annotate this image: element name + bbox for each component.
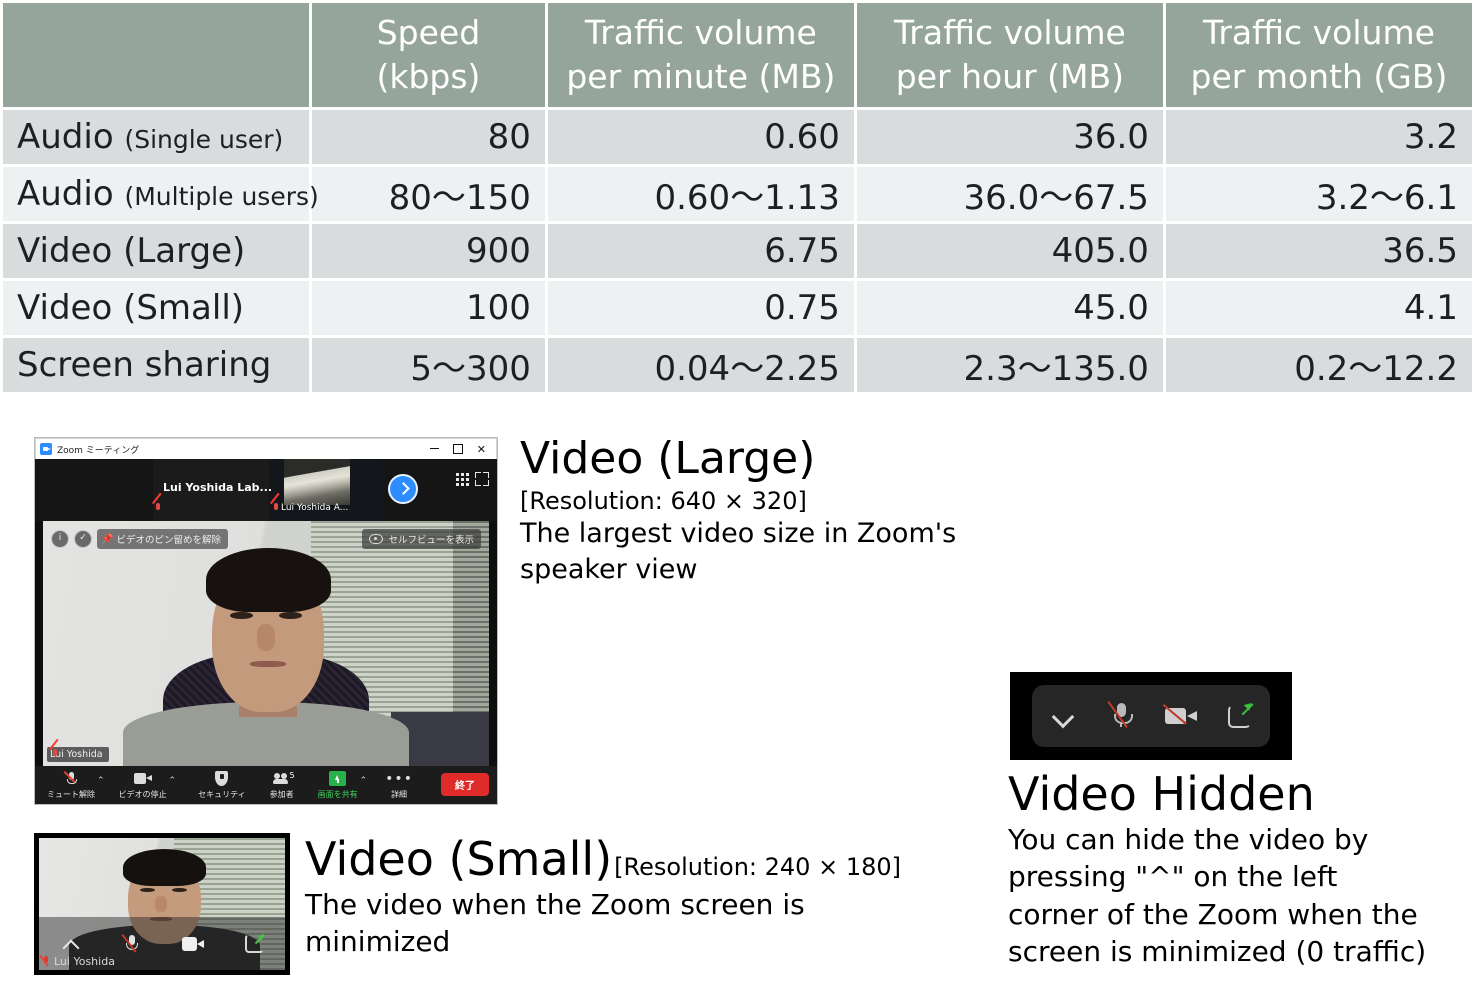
caption-large-resolution: [Resolution: 640 × 320] — [520, 487, 1060, 515]
traffic-table: Speed (kbps) Traffic volume per minute (… — [0, 0, 1475, 395]
toolbar-mute-button[interactable]: ミュート解除 — [47, 766, 95, 804]
gallery-view-icon[interactable] — [456, 473, 469, 486]
more-dots-icon: ••• — [385, 771, 413, 787]
cell-speed: 900 — [312, 224, 545, 278]
column-header-speed-line1: Speed — [318, 11, 539, 55]
minimized-zoom-toolbar — [1032, 685, 1270, 747]
unpin-video-label: ビデオのピン留めを解除 — [116, 532, 221, 546]
zoom-logo-icon — [40, 443, 52, 455]
video-person-nose — [257, 624, 275, 651]
video-person-mouth — [250, 661, 286, 667]
table-corner-cell — [3, 3, 309, 107]
column-header-per-minute: Traffic volume per minute (MB) — [548, 3, 854, 107]
zoom-window-titlebar: Zoom ミーティング ✕ — [35, 438, 497, 459]
camera-off-icon[interactable] — [1164, 699, 1198, 733]
caption-hidden-desc-line1: You can hide the video by — [1008, 822, 1475, 858]
close-icon[interactable]: ✕ — [477, 444, 486, 455]
toolbar-video-button[interactable]: ビデオの停止 — [119, 766, 167, 804]
participant-a-name: Lui Yoshida Lab... — [163, 481, 272, 494]
cell-per-minute: 0.75 — [548, 281, 854, 335]
chevron-down-icon[interactable] — [1045, 699, 1079, 733]
next-participants-icon[interactable] — [388, 474, 418, 504]
camera-icon[interactable] — [180, 933, 206, 955]
column-header-per-month-line2: per month (GB) — [1172, 55, 1466, 99]
column-header-per-month: Traffic volume per month (GB) — [1166, 3, 1472, 107]
row-label-main: Audio — [17, 174, 114, 214]
table-row: Video (Large) 900 6.75 405.0 36.5 — [3, 224, 1472, 278]
cell-per-month: 3.2〜6.1 — [1166, 167, 1472, 221]
maximize-icon[interactable] — [453, 444, 463, 454]
mic-muted-icon — [271, 503, 280, 515]
cell-per-minute: 0.60〜1.13 — [548, 167, 854, 221]
cell-speed: 80〜150 — [312, 167, 545, 221]
toolbar-video-label: ビデオの停止 — [119, 789, 167, 800]
video-person-eye — [279, 612, 301, 619]
table-row: Audio (Multiple users) 80〜150 0.60〜1.13 … — [3, 167, 1472, 221]
caption-video-small: Video (Small) [Resolution: 240 × 180] Th… — [305, 835, 975, 960]
cell-per-minute: 0.60 — [548, 110, 854, 164]
video-person-nose — [155, 896, 167, 912]
column-header-per-hour-line2: per hour (MB) — [863, 55, 1157, 99]
video-options-caret-icon[interactable]: ⌃ — [169, 776, 177, 786]
chevron-up-icon[interactable] — [57, 933, 83, 955]
mute-options-caret-icon[interactable]: ⌃ — [97, 776, 105, 786]
pin-icon: 📌 — [101, 534, 113, 545]
illustration-area: Zoom ミーティング ✕ Lui Yoshida Lab... Lui Yos… — [0, 420, 1475, 988]
column-header-per-minute-line2: per minute (MB) — [554, 55, 848, 99]
minimize-icon[interactable] — [430, 448, 439, 449]
minimized-video-name-badge: Lui Yoshida — [42, 955, 115, 968]
eye-icon — [369, 534, 383, 544]
unpin-video-button[interactable]: 📌 ビデオのピン留めを解除 — [97, 529, 228, 549]
video-person-hair — [206, 548, 331, 612]
mic-muted-icon[interactable] — [1104, 699, 1138, 733]
toolbar-participants-button[interactable]: 5 参加者 — [270, 766, 294, 804]
exit-minimized-icon[interactable] — [1223, 699, 1257, 733]
toolbar-security-label: セキュリティ — [198, 789, 246, 800]
minimized-zoom-video: Lui Yoshida — [34, 833, 290, 975]
row-label-audio-multiple: Audio (Multiple users) — [3, 167, 309, 221]
video-person-brow — [137, 880, 157, 883]
window-controls: ✕ — [430, 444, 492, 455]
column-header-per-month-line1: Traffic volume — [1172, 11, 1466, 55]
row-label-sub: (Multiple users) — [124, 182, 318, 211]
toolbar-more-label: 詳細 — [391, 789, 407, 800]
speaker-video: i ✓ 📌 ビデオのピン留めを解除 セルフビューを表示 Lui Yoshida — [43, 521, 489, 766]
column-header-per-minute-line1: Traffic volume — [554, 11, 848, 55]
row-label-main: Video (Large) — [17, 231, 245, 271]
toolbar-end-meeting-button[interactable]: 終了 — [441, 773, 489, 796]
row-label-audio-single: Audio (Single user) — [3, 110, 309, 164]
share-screen-icon — [329, 771, 346, 787]
table-header-row: Speed (kbps) Traffic volume per minute (… — [3, 3, 1472, 107]
toolbar-share-label: 画面を共有 — [318, 789, 358, 800]
caption-large-desc-line1: The largest video size in Zoom's — [520, 517, 1060, 551]
show-selfview-label: セルフビューを表示 — [388, 532, 474, 546]
participant-b-name: Lui Yoshida A... — [281, 503, 348, 513]
cell-per-hour: 2.3〜135.0 — [857, 338, 1163, 392]
toolbar-security-button[interactable]: セキュリティ — [198, 766, 246, 804]
cell-per-minute: 0.04〜2.25 — [548, 338, 854, 392]
caption-video-hidden: Video Hidden You can hide the video by p… — [1008, 770, 1475, 970]
cell-per-month: 4.1 — [1166, 281, 1472, 335]
row-label-screen-sharing: Screen sharing — [3, 338, 309, 392]
cell-per-minute: 6.75 — [548, 224, 854, 278]
shield-icon — [215, 771, 228, 787]
toolbar-more-button[interactable]: ••• 詳細 — [385, 766, 413, 804]
caption-small-resolution: [Resolution: 240 × 180] — [614, 853, 901, 881]
video-person-hair — [123, 849, 207, 886]
zoom-window-body: Lui Yoshida Lab... Lui Yoshida A... — [35, 459, 497, 804]
minimized-video-frame: Lui Yoshida — [39, 838, 285, 970]
caption-video-large: Video (Large) [Resolution: 640 × 320] Th… — [520, 435, 1060, 587]
speaker-name-badge: Lui Yoshida — [47, 747, 109, 762]
camera-icon — [134, 771, 152, 787]
share-options-caret-icon[interactable]: ⌃ — [360, 776, 368, 786]
video-person-eye — [230, 612, 252, 619]
meeting-info-icon[interactable]: i — [51, 530, 69, 548]
caption-hidden-desc-line3: corner of the Zoom when the — [1008, 897, 1475, 933]
zoom-meeting-toolbar: ミュート解除 ⌃ ビデオの停止 ⌃ セキュリティ 5 参加者 — [35, 766, 497, 804]
caption-small-title: Video (Small) — [305, 835, 612, 885]
mic-muted-icon — [50, 749, 59, 761]
encryption-shield-icon[interactable]: ✓ — [74, 530, 92, 548]
row-label-main: Screen sharing — [17, 345, 271, 385]
cell-per-month: 0.2〜12.2 — [1166, 338, 1472, 392]
zoom-meeting-window: Zoom ミーティング ✕ Lui Yoshida Lab... Lui Yos… — [35, 438, 497, 804]
minimized-video-name-label: Lui Yoshida — [54, 955, 115, 968]
video-person-brow — [169, 880, 189, 883]
participant-filmstrip: Lui Yoshida Lab... Lui Yoshida A... — [35, 459, 497, 521]
zoom-window-title: Zoom ミーティング — [57, 443, 430, 456]
show-selfview-button[interactable]: セルフビューを表示 — [362, 529, 481, 549]
cell-speed: 80 — [312, 110, 545, 164]
participants-icon: 5 — [272, 771, 292, 787]
caption-hidden-title: Video Hidden — [1008, 770, 1475, 820]
mic-muted-icon[interactable] — [118, 933, 144, 955]
minimized-zoom-toolbar-container — [1010, 672, 1292, 760]
table-row: Video (Small) 100 0.75 45.0 4.1 — [3, 281, 1472, 335]
row-label-video-small: Video (Small) — [3, 281, 309, 335]
toolbar-mute-label: ミュート解除 — [47, 789, 95, 800]
caption-small-desc-line2: minimized — [305, 924, 975, 960]
mic-muted-icon — [153, 503, 162, 515]
cell-per-hour: 405.0 — [857, 224, 1163, 278]
table-row: Audio (Single user) 80 0.60 36.0 3.2 — [3, 110, 1472, 164]
mic-muted-icon — [67, 771, 75, 787]
caption-hidden-desc-line2: pressing "^" on the left — [1008, 859, 1475, 895]
column-header-per-hour-line1: Traffic volume — [863, 11, 1157, 55]
cell-per-month: 36.5 — [1166, 224, 1472, 278]
column-header-speed-line2: (kbps) — [318, 55, 539, 99]
cell-per-hour: 36.0 — [857, 110, 1163, 164]
row-label-video-large: Video (Large) — [3, 224, 309, 278]
caption-small-desc-line1: The video when the Zoom screen is — [305, 887, 975, 923]
column-header-per-hour: Traffic volume per hour (MB) — [857, 3, 1163, 107]
cell-per-month: 3.2 — [1166, 110, 1472, 164]
cell-per-hour: 36.0〜67.5 — [857, 167, 1163, 221]
exit-minimized-icon[interactable] — [241, 933, 267, 955]
caption-large-title: Video (Large) — [520, 435, 1060, 483]
participants-count: 5 — [290, 771, 295, 780]
row-label-main: Audio — [17, 117, 114, 157]
row-label-main: Video (Small) — [17, 288, 244, 328]
row-label-sub: (Single user) — [124, 125, 283, 154]
toolbar-share-screen-button[interactable]: 画面を共有 — [318, 766, 358, 804]
cell-speed: 5〜300 — [312, 338, 545, 392]
caption-hidden-desc-line4: screen is minimized (0 traffic) — [1008, 934, 1475, 970]
toolbar-participants-label: 参加者 — [270, 789, 294, 800]
mic-muted-icon — [42, 956, 51, 968]
table-row: Screen sharing 5〜300 0.04〜2.25 2.3〜135.0… — [3, 338, 1472, 392]
caption-large-desc-line2: speaker view — [520, 553, 1060, 587]
column-header-speed: Speed (kbps) — [312, 3, 545, 107]
cell-per-hour: 45.0 — [857, 281, 1163, 335]
fullscreen-icon[interactable] — [475, 472, 489, 486]
video-top-left-controls: i ✓ 📌 ビデオのピン留めを解除 — [51, 529, 228, 549]
cell-speed: 100 — [312, 281, 545, 335]
